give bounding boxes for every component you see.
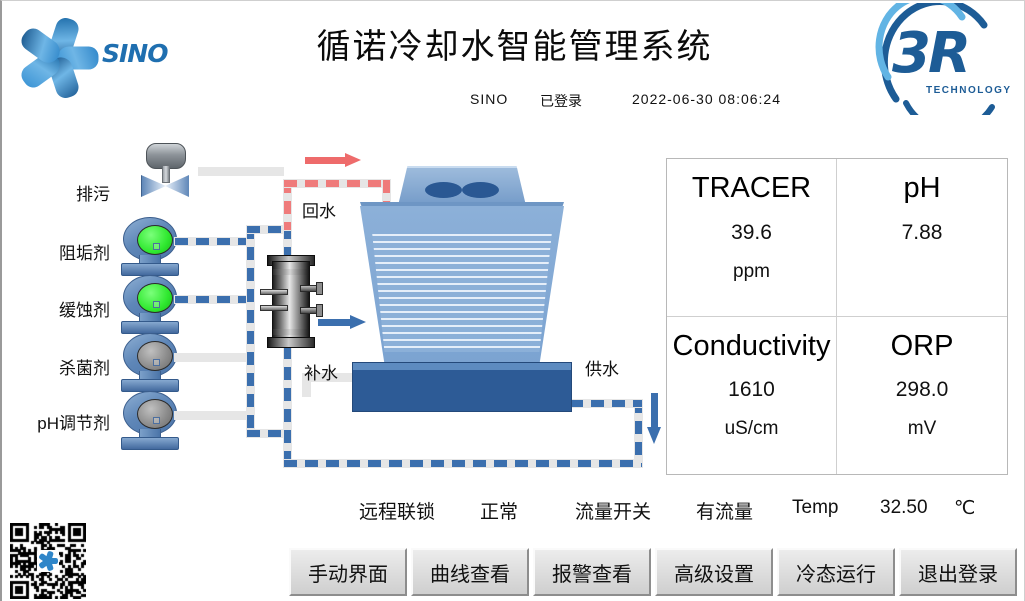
fan-blade-icon xyxy=(462,182,499,198)
login-status: 已登录 xyxy=(540,91,582,111)
pump-center-dot-icon xyxy=(153,359,160,366)
pump-status-led xyxy=(137,283,173,313)
measurement-value: 1610 xyxy=(728,378,775,402)
pipe-antiscalant xyxy=(174,237,254,246)
temperature-value: 32.50 xyxy=(880,497,928,519)
pump-center-dot-icon xyxy=(153,417,160,424)
pump-center-dot-icon xyxy=(153,243,160,250)
page-title: 循诺冷却水智能管理系统 xyxy=(2,19,1025,68)
qr-code[interactable] xyxy=(10,523,86,599)
pump-base-icon xyxy=(121,437,179,450)
measurement-value: 7.88 xyxy=(902,221,943,245)
arrow-shaft xyxy=(651,393,658,429)
trend-view-button[interactable]: 曲线查看 xyxy=(411,548,529,596)
temperature-label: Temp xyxy=(792,497,838,519)
flow-switch-value: 有流量 xyxy=(696,497,753,524)
current-user: SINO xyxy=(470,91,508,107)
tower-fan-icon xyxy=(425,182,499,198)
cold-start-button[interactable]: 冷态运行 xyxy=(777,548,895,596)
fan-blade-icon xyxy=(425,182,462,198)
hmi-screen: SINO 3R TECHNOLOGY 循诺冷却水智能管理系统 SINO 已登录 … xyxy=(0,0,1025,601)
pipe-supply-bottom xyxy=(283,459,643,468)
measurement-panel: TRACER 39.6 ppm pH 7.88 Conductivity 161… xyxy=(666,158,1008,475)
pipe-flow-indicator xyxy=(284,346,291,436)
label-return-water: 回水 xyxy=(302,197,336,222)
pipe-main-riser xyxy=(246,225,255,437)
dosing-pump-ph-adjuster[interactable] xyxy=(119,391,179,449)
exchanger-nozzle-cap-icon xyxy=(316,304,323,317)
measurement-unit: ppm xyxy=(733,261,770,283)
measurement-card-conductivity[interactable]: Conductivity 1610 uS/cm xyxy=(667,317,837,475)
remote-interlock-label: 远程联锁 xyxy=(359,497,435,524)
arrow-return-water xyxy=(305,153,361,167)
dosing-label-antiscalant: 阻垢剂 xyxy=(59,239,110,264)
arrow-head xyxy=(345,153,361,167)
measurement-unit: mV xyxy=(908,418,937,440)
pipe-supply-right-riser xyxy=(634,399,643,463)
dosing-pump-biocide[interactable] xyxy=(119,333,179,391)
measurement-name: pH xyxy=(903,173,940,205)
measurement-card-ph[interactable]: pH 7.88 xyxy=(837,159,1007,317)
pump-status-led xyxy=(137,341,173,371)
exchanger-tube-icon xyxy=(260,289,288,295)
pump-status-led xyxy=(137,225,173,255)
remote-interlock-value: 正常 xyxy=(480,497,518,524)
blowdown-valve[interactable] xyxy=(122,143,208,199)
navigation-button-bar: 手动界面 曲线查看 报警查看 高级设置 冷态运行 退出登录 xyxy=(289,548,1017,596)
dosing-label-blowdown: 排污 xyxy=(76,180,110,205)
session-info-bar: SINO 已登录 2022-06-30 08:06:24 xyxy=(2,91,1025,113)
exchanger-bottom-cap-icon xyxy=(267,337,315,348)
measurement-card-orp[interactable]: ORP 298.0 mV xyxy=(837,317,1007,475)
measurement-unit: uS/cm xyxy=(725,418,779,440)
qr-center-logo-icon xyxy=(37,550,59,572)
cooling-tower[interactable] xyxy=(342,166,582,421)
exchanger-flange-icon xyxy=(273,329,307,335)
tower-louvers-icon xyxy=(360,234,564,352)
advanced-settings-button[interactable]: 高级设置 xyxy=(655,548,773,596)
pipe-exchanger-outlet xyxy=(283,345,292,437)
status-bar: 远程联锁 正常 流量开关 有流量 Temp 32.50 ℃ xyxy=(2,497,1025,529)
measurement-value: 298.0 xyxy=(896,378,949,402)
tower-basin-icon xyxy=(352,362,572,412)
dosing-label-ph-adjuster: pH调节剂 xyxy=(37,409,110,434)
arrow-head xyxy=(647,427,661,444)
exchanger-nozzle-cap-icon xyxy=(316,282,323,295)
arrow-supply-water xyxy=(647,393,661,445)
dosing-label-biocide: 杀菌剂 xyxy=(59,354,110,379)
pipe-flow-indicator xyxy=(175,296,253,303)
temperature-unit: ℃ xyxy=(954,497,975,520)
dosing-label-corrosion-inhibitor: 缓蚀剂 xyxy=(59,296,110,321)
measurement-name: ORP xyxy=(891,331,954,363)
dosing-pump-antiscalant[interactable] xyxy=(119,217,179,275)
pipe-flow-indicator xyxy=(175,238,253,245)
arrow-shaft xyxy=(305,157,347,164)
pump-center-dot-icon xyxy=(153,301,160,308)
alarm-view-button[interactable]: 报警查看 xyxy=(533,548,651,596)
measurement-value: 39.6 xyxy=(731,221,772,245)
measurement-card-tracer[interactable]: TRACER 39.6 ppm xyxy=(667,159,837,317)
exchanger-flange-icon xyxy=(273,269,307,275)
label-supply-water: 供水 xyxy=(585,355,619,380)
pipe-flow-indicator xyxy=(284,460,642,467)
measurement-name: Conductivity xyxy=(673,331,831,363)
manual-interface-button[interactable]: 手动界面 xyxy=(289,548,407,596)
pipe-flow-indicator xyxy=(635,400,642,462)
pipe-ph-adjuster-idle xyxy=(174,411,246,420)
pipe-biocide-idle xyxy=(174,353,246,362)
exchanger-tube-icon xyxy=(260,305,288,311)
valve-stem-icon xyxy=(162,165,170,183)
pump-status-led xyxy=(137,399,173,429)
pipe-corrosion-inhibitor xyxy=(174,295,254,304)
measurement-name: TRACER xyxy=(692,173,811,205)
logout-button[interactable]: 退出登录 xyxy=(899,548,1017,596)
pipe-blowdown-idle xyxy=(198,167,284,176)
label-makeup-water: 补水 xyxy=(304,359,338,384)
dosing-pump-corrosion-inhibitor[interactable] xyxy=(119,275,179,333)
pipe-flow-indicator xyxy=(247,226,254,436)
side-stream-filter[interactable] xyxy=(264,251,318,351)
flow-switch-label: 流量开关 xyxy=(575,497,651,524)
datetime: 2022-06-30 08:06:24 xyxy=(632,91,781,107)
